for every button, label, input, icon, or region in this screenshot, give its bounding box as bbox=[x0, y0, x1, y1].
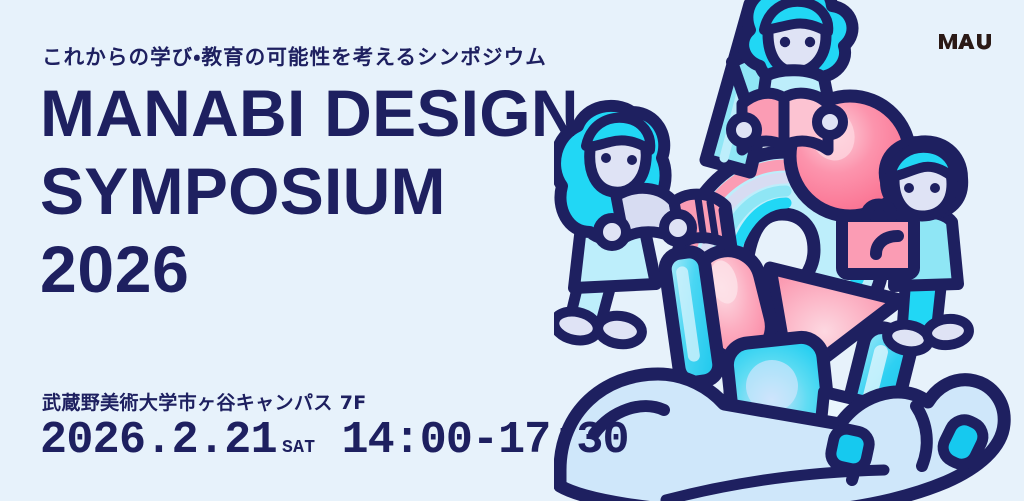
title-line-1: MANABI DESIGN bbox=[40, 74, 579, 152]
symposium-poster: これからの学び・教育の可能性を考えるシンポジウム MANABI DESIGN S… bbox=[0, 0, 1024, 501]
title-line-3: 2026 bbox=[40, 230, 579, 308]
event-time: 14:00-17:30 bbox=[341, 418, 628, 463]
title-line-2: SYMPOSIUM bbox=[40, 152, 579, 230]
page-title: MANABI DESIGN SYMPOSIUM 2026 bbox=[40, 74, 579, 308]
poster-subtitle: これからの学び・教育の可能性を考えるシンポジウム bbox=[42, 40, 547, 70]
child-reading-top bbox=[731, 0, 853, 150]
event-datetime: 2026.2.21 SAT 14:00-17:30 bbox=[40, 418, 629, 463]
venue-text: 武蔵野美術大学市ヶ谷キャンパス 7F bbox=[42, 388, 367, 415]
poster-text-column: これからの学び・教育の可能性を考えるシンポジウム MANABI DESIGN S… bbox=[40, 0, 600, 501]
event-date: 2026.2.21 bbox=[40, 418, 277, 463]
event-day-of-week: SAT bbox=[282, 439, 316, 457]
mau-logo bbox=[938, 28, 1000, 54]
